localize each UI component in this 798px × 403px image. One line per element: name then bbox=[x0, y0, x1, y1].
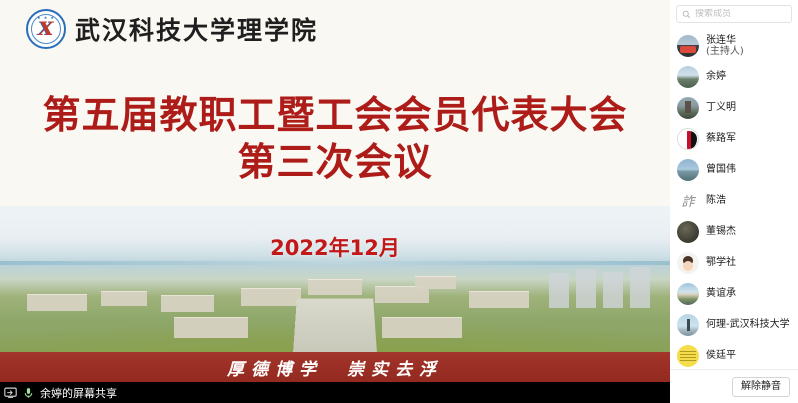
avatar bbox=[677, 159, 699, 181]
avatar bbox=[677, 128, 699, 150]
participant-row[interactable]: 黄谊承 bbox=[670, 278, 798, 309]
screen-share-statusbar: 余婷的屏幕共享 bbox=[0, 382, 670, 403]
slide-title-line1: 第五届教职工暨工会会员代表大会 bbox=[42, 93, 627, 137]
panel-footer: 解除静音 bbox=[670, 369, 798, 403]
photo-city-block bbox=[549, 273, 569, 308]
microphone-icon bbox=[22, 387, 35, 399]
photo-building bbox=[174, 317, 248, 338]
search-box[interactable] bbox=[676, 5, 792, 23]
participant-row[interactable]: 鄂学社 bbox=[670, 247, 798, 278]
participant-name: 蔡路军 bbox=[706, 133, 736, 144]
university-logo-row: ★ ★ ★ X 武汉科技大学理学院 bbox=[26, 9, 318, 49]
photo-building bbox=[469, 291, 529, 308]
shared-screen-area[interactable]: ★ ★ ★ X 武汉科技大学理学院 第五届教职工暨工会会员代表大会 第三次会议 bbox=[0, 0, 670, 403]
slide-title: 第五届教职工暨工会会员代表大会 第三次会议 bbox=[0, 92, 670, 186]
photo-building bbox=[308, 279, 362, 295]
emblem-stars-icon: ★ ★ ★ bbox=[28, 15, 64, 20]
participant-name: 黄谊承 bbox=[706, 288, 736, 299]
avatar bbox=[677, 221, 699, 243]
photo-building bbox=[382, 317, 462, 338]
participant-row[interactable]: 张连华(主持人) bbox=[670, 30, 798, 61]
emblem-letter: X bbox=[39, 20, 54, 39]
participant-row[interactable]: 侯廷平 bbox=[670, 340, 798, 369]
slide-date: 2022年12月 bbox=[0, 232, 670, 262]
search-icon bbox=[682, 10, 691, 19]
participant-name: 张连华(主持人) bbox=[706, 35, 744, 57]
avatar bbox=[677, 314, 699, 336]
participant-row[interactable]: 余婷 bbox=[670, 61, 798, 92]
photo-central-plaza bbox=[293, 298, 377, 352]
photo-city-block bbox=[603, 272, 623, 309]
photo-building bbox=[415, 276, 455, 289]
unmute-button[interactable]: 解除静音 bbox=[732, 377, 790, 397]
avatar bbox=[677, 283, 699, 305]
participant-name: 侯廷平 bbox=[706, 350, 736, 361]
participants-panel: 张连华(主持人)余婷丁义明蔡路军曾国伟陈浩董锡杰鄂学社黄谊承何理-武汉科技大学侯… bbox=[670, 0, 798, 403]
photo-city-block bbox=[630, 267, 650, 308]
presentation-slide: ★ ★ ★ X 武汉科技大学理学院 第五届教职工暨工会会员代表大会 第三次会议 bbox=[0, 0, 670, 382]
photo-building bbox=[241, 288, 301, 307]
photo-city-block bbox=[576, 269, 596, 308]
university-emblem-icon: ★ ★ ★ X bbox=[26, 9, 66, 49]
search-container bbox=[670, 0, 798, 27]
participant-row[interactable]: 曾国伟 bbox=[670, 154, 798, 185]
photo-horizon bbox=[0, 261, 670, 265]
participant-row[interactable]: 何理-武汉科技大学 bbox=[670, 309, 798, 340]
participant-name: 董锡杰 bbox=[706, 226, 736, 237]
avatar bbox=[677, 97, 699, 119]
meeting-window: ★ ★ ★ X 武汉科技大学理学院 第五届教职工暨工会会员代表大会 第三次会议 bbox=[0, 0, 798, 403]
motto-banner: 厚德博学 崇实去浮 bbox=[0, 352, 670, 382]
participant-name: 鄂学社 bbox=[706, 257, 736, 268]
participant-name: 陈浩 bbox=[706, 195, 726, 206]
participant-name: 丁义明 bbox=[706, 102, 736, 113]
participant-row[interactable]: 丁义明 bbox=[670, 92, 798, 123]
participant-row[interactable]: 蔡路军 bbox=[670, 123, 798, 154]
motto-text: 厚德博学 崇实去浮 bbox=[227, 355, 443, 380]
avatar bbox=[677, 252, 699, 274]
screen-share-label: 余婷的屏幕共享 bbox=[40, 385, 117, 401]
slide-title-line2: 第三次会议 bbox=[0, 139, 670, 186]
participant-name: 曾国伟 bbox=[706, 164, 736, 175]
participant-name: 余婷 bbox=[706, 71, 726, 82]
photo-building bbox=[27, 294, 87, 311]
participant-role: (主持人) bbox=[706, 46, 744, 57]
avatar bbox=[677, 66, 699, 88]
photo-building bbox=[375, 286, 429, 303]
screen-share-icon bbox=[4, 387, 17, 399]
avatar bbox=[677, 190, 699, 212]
university-name: 武汉科技大学理学院 bbox=[75, 11, 318, 47]
participant-list[interactable]: 张连华(主持人)余婷丁义明蔡路军曾国伟陈浩董锡杰鄂学社黄谊承何理-武汉科技大学侯… bbox=[670, 27, 798, 369]
search-input[interactable] bbox=[695, 9, 786, 19]
photo-building bbox=[101, 291, 148, 307]
photo-building bbox=[161, 295, 215, 312]
participant-name: 何理-武汉科技大学 bbox=[706, 319, 790, 330]
participant-row[interactable]: 董锡杰 bbox=[670, 216, 798, 247]
participant-row[interactable]: 陈浩 bbox=[670, 185, 798, 216]
avatar bbox=[677, 345, 699, 367]
avatar bbox=[677, 35, 699, 57]
campus-aerial-photo: 2022年12月 bbox=[0, 206, 670, 352]
